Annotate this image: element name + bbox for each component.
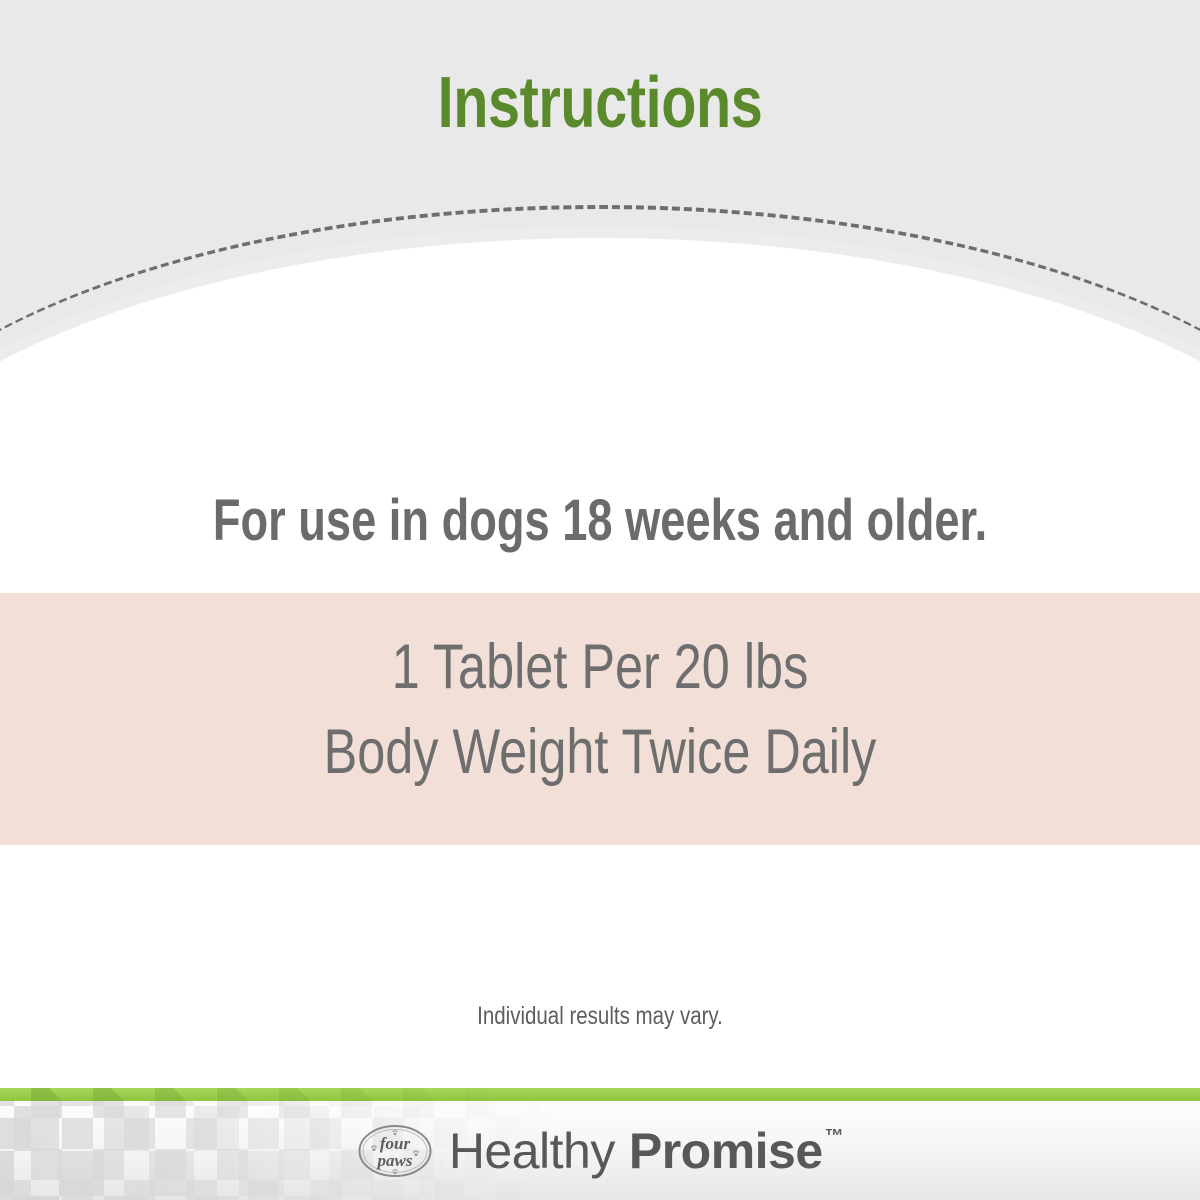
disclaimer-text: Individual results may vary.: [108, 1002, 1092, 1031]
dosage-line-1: 1 Tablet Per 20 lbs: [120, 625, 1080, 710]
logo-line-2: paws: [375, 1151, 412, 1170]
brand-word-promise: Promise: [629, 1122, 823, 1180]
green-accent-bar: [0, 1088, 1200, 1101]
trademark-symbol: ™: [825, 1126, 844, 1148]
product-instructions-panel: Instructions For use in dogs 18 weeks an…: [0, 0, 1200, 1200]
age-requirement-text: For use in dogs 18 weeks and older.: [132, 487, 1068, 554]
green-diamond-pattern: [0, 1088, 520, 1101]
dosage-instructions: 1 Tablet Per 20 lbs Body Weight Twice Da…: [120, 625, 1080, 795]
brand-word-healthy: Healthy: [449, 1122, 615, 1180]
brand-footer: four paws: [0, 1088, 1200, 1200]
dosage-line-2: Body Weight Twice Daily: [120, 710, 1080, 795]
brand-lockup: four paws: [0, 1101, 1200, 1200]
page-title: Instructions: [120, 62, 1080, 144]
brand-wordmark: Healthy Promise ™: [449, 1122, 843, 1180]
four-paws-logo: four paws: [357, 1123, 433, 1179]
logo-line-1: four: [380, 1134, 411, 1153]
